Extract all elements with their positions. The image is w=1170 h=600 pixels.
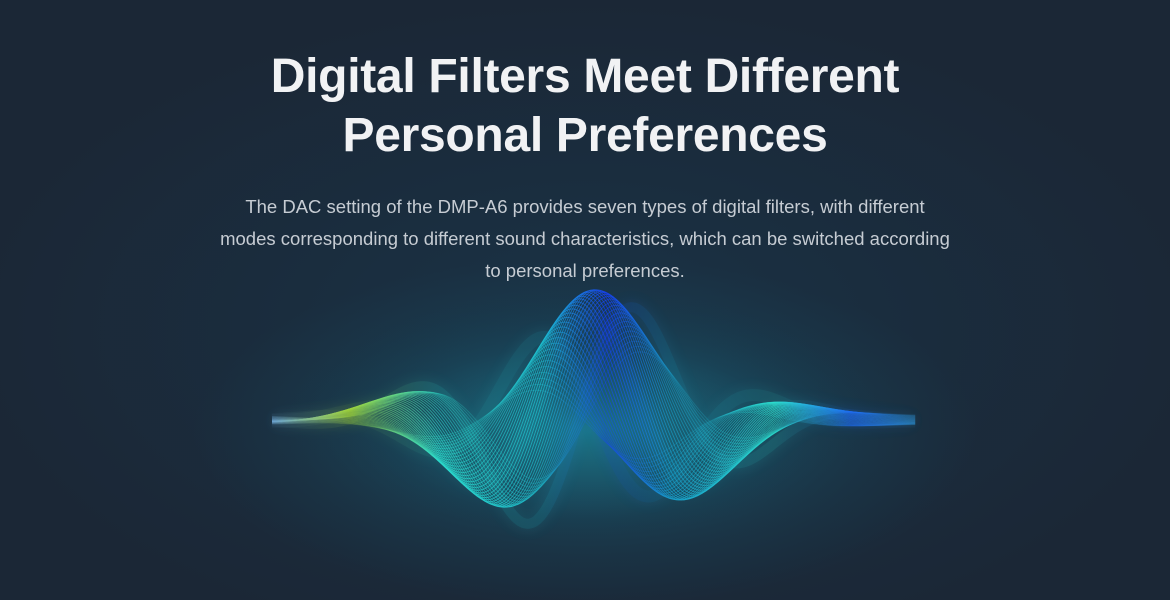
page-subtitle-line-3: to personal preferences.: [0, 255, 1170, 287]
wave-center-glow: [258, 288, 918, 568]
page-title-line-2: Personal Preferences: [0, 107, 1170, 166]
page-subtitle: The DAC setting of the DMP-A6 provides s…: [0, 165, 1170, 288]
promo-banner: Digital Filters Meet Different Personal …: [0, 0, 1170, 600]
header-text-block: Digital Filters Meet Different Personal …: [0, 0, 1170, 288]
page-subtitle-line-2: modes corresponding to different sound c…: [0, 223, 1170, 255]
page-title: Digital Filters Meet Different Personal …: [0, 0, 1170, 165]
page-title-line-1: Digital Filters Meet Different: [0, 48, 1170, 107]
page-subtitle-line-1: The DAC setting of the DMP-A6 provides s…: [0, 191, 1170, 223]
